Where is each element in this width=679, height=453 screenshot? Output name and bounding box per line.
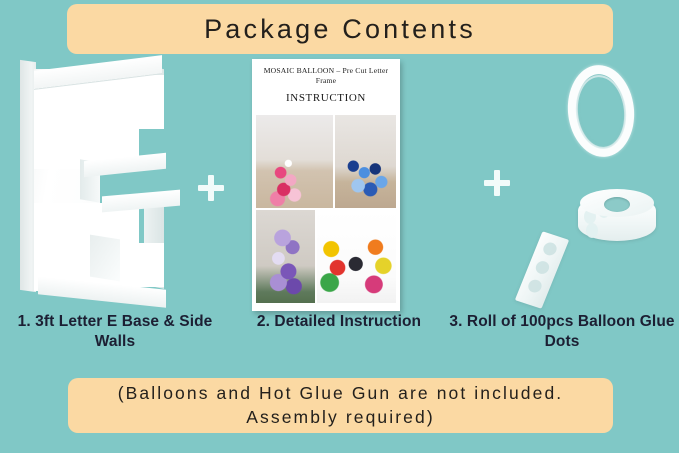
caption-item-1: 1. 3ft Letter E Base & Side Walls: [4, 312, 226, 352]
glue-dot-tail-strip: [515, 231, 569, 308]
letter-e-frame-icon: [6, 55, 188, 313]
letter-e-shape: [6, 55, 188, 313]
instruction-booklet-icon: MOSAIC BALLOON – Pre Cut Letter Frame IN…: [252, 59, 400, 311]
plus-icon: [198, 175, 224, 201]
photo-pink-balloon-letters: [256, 115, 333, 208]
glue-dot: [541, 241, 558, 257]
header-banner: Package Contents: [67, 4, 613, 54]
booklet-subtitle: INSTRUCTION: [256, 92, 396, 104]
captions-row: 1. 3ft Letter E Base & Side Walls 2. Det…: [0, 310, 679, 368]
disclaimer-note: (Balloons and Hot Glue Gun are not inclu…: [74, 382, 607, 429]
photo-rainbow-two-letters: [317, 210, 396, 303]
photo-purple-s-letter: [256, 210, 315, 303]
glue-dot-roll-icon: [520, 57, 679, 311]
items-row: MOSAIC BALLOON – Pre Cut Letter Frame IN…: [0, 55, 679, 313]
letter-e-bottom-arm-face: [126, 243, 164, 287]
booklet-photo-row-bottom: [256, 210, 396, 303]
glue-dot-roll: [578, 189, 656, 247]
caption-item-2: 2. Detailed Instruction: [236, 312, 442, 332]
letter-e-top-arm-face: [126, 75, 164, 129]
footer-banner: (Balloons and Hot Glue Gun are not inclu…: [68, 378, 613, 433]
infographic-page: Package Contents: [0, 0, 679, 453]
plus-icon: [484, 170, 510, 196]
glue-roll-center-hole: [604, 197, 630, 212]
glue-dot-bump: [586, 223, 598, 238]
booklet-header: MOSAIC BALLOON – Pre Cut Letter Frame IN…: [252, 59, 400, 106]
letter-e-notch: [90, 235, 120, 282]
glue-dot: [534, 259, 551, 275]
caption-item-3: 3. Roll of 100pcs Balloon Glue Dots: [448, 312, 676, 352]
photo-blue-one-letters: [335, 115, 396, 208]
page-title: Package Contents: [204, 16, 476, 43]
letter-e-middle-arm-2: [102, 190, 180, 213]
booklet-photo-row-top: [256, 115, 396, 208]
booklet-title: MOSAIC BALLOON – Pre Cut Letter Frame: [256, 66, 396, 86]
glue-dot: [526, 278, 543, 294]
letter-e-upper-body: [34, 77, 139, 169]
booklet-photo-collage: [256, 115, 396, 303]
